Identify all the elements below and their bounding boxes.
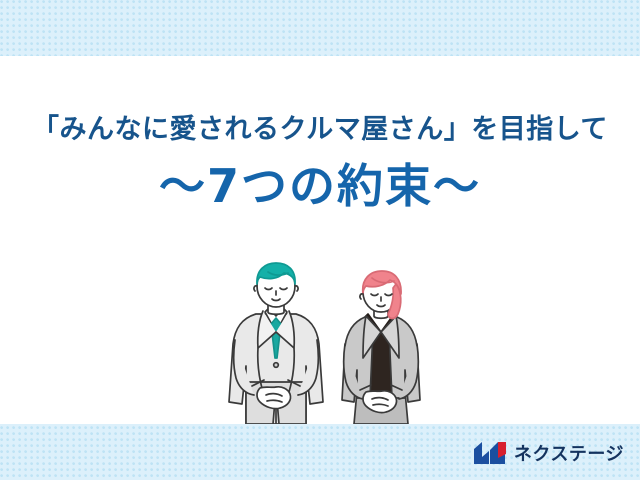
two-staff-bowing-illustration: [222, 262, 438, 424]
slide-canvas: 「みんなに愛されるクルマ屋さん」を目指して 〜7つの約束〜: [0, 0, 640, 480]
headline-primary: 「みんなに愛されるクルマ屋さん」を目指して: [0, 112, 640, 148]
headline-secondary: 〜7つの約束〜: [0, 158, 640, 216]
brand-logo: ネクステージ: [473, 440, 624, 466]
male-staff-figure: [229, 263, 323, 424]
headline-block: 「みんなに愛されるクルマ屋さん」を目指して 〜7つの約束〜: [0, 112, 640, 216]
nextage-n-mark-icon: [473, 440, 507, 466]
brand-name-label: ネクステージ: [514, 440, 624, 466]
female-staff-figure: [342, 271, 420, 424]
illustration-svg: [222, 262, 438, 424]
